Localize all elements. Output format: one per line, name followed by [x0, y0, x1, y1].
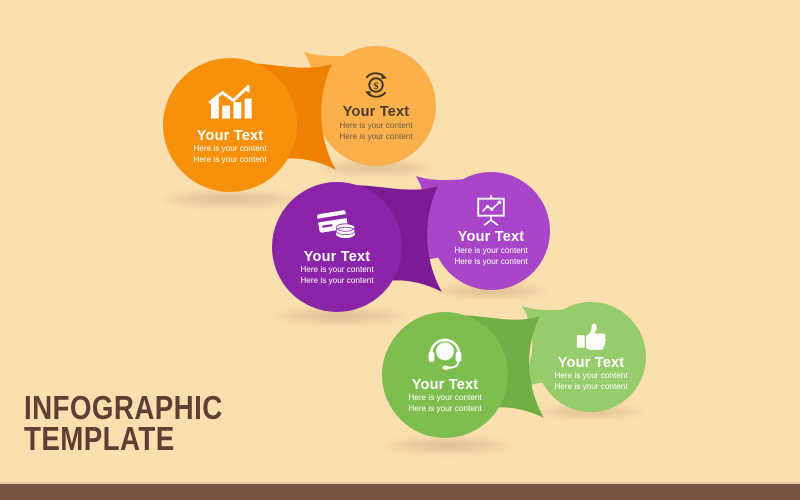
credit-card-coins-icon: [315, 207, 359, 243]
bubble-text: Your Text Here is your content Here is y…: [408, 377, 481, 416]
bubble-heading: Your Text: [197, 128, 264, 145]
thumbs-up-icon: [574, 321, 608, 352]
bar-chart-growth-icon: [207, 84, 253, 122]
bubble-content-line-1: Here is your content: [408, 393, 481, 404]
bubble-text: Your Text Here is your content Here is y…: [300, 249, 373, 288]
page-title-line-2: TEMPLATE: [24, 424, 223, 455]
headset-support-icon: [425, 335, 465, 371]
bubble-content-line-1: Here is your content: [193, 144, 266, 155]
svg-text:$: $: [374, 81, 379, 92]
infographic-canvas: $ Your Text Here is your content Here is…: [0, 0, 800, 500]
bubble-5[interactable]: Your Text Here is your content Here is y…: [382, 312, 508, 438]
bubble-3[interactable]: Your Text Here is your content Here is y…: [272, 182, 402, 312]
bubble-heading: Your Text: [304, 249, 371, 266]
bubble-content-line-1: Here is your content: [300, 265, 373, 276]
bubble-text: Your Text Here is your content Here is y…: [193, 128, 266, 167]
bubble-1[interactable]: Your Text Here is your content Here is y…: [163, 58, 297, 192]
bubble-content-line-2: Here is your content: [300, 276, 373, 287]
bottom-bar: [0, 484, 800, 500]
presentation-chart-icon: [474, 194, 508, 226]
bubble-heading: Your Text: [412, 377, 479, 394]
page-title: INFOGRAPHIC TEMPLATE: [24, 393, 261, 454]
bubble-content-line-2: Here is your content: [193, 155, 266, 166]
bubble-content-line-2: Here is your content: [408, 404, 481, 415]
